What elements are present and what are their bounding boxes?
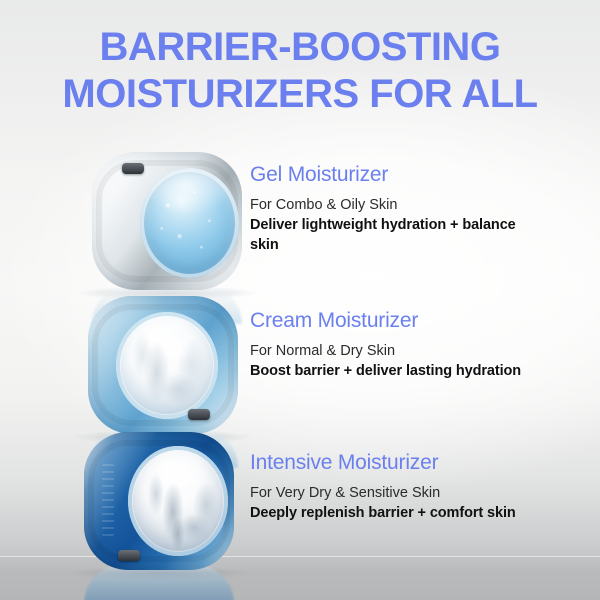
cream-jar-opening xyxy=(116,312,218,419)
product-skintype-cream: For Normal & Dry Skin xyxy=(250,341,521,361)
product-block-cream: Cream Moisturizer For Normal & Dry Skin … xyxy=(250,308,521,381)
cream-swirl-texture xyxy=(116,312,218,419)
headline-line-2: MOISTURIZERS FOR ALL xyxy=(0,71,600,118)
gel-jar-opening xyxy=(140,168,239,278)
intensive-jar-tab xyxy=(118,550,140,561)
product-benefit-intensive: Deeply replenish barrier + comfort skin xyxy=(250,503,516,523)
product-title-intensive: Intensive Moisturizer xyxy=(250,450,516,476)
gel-shimmer xyxy=(140,168,239,278)
cream-jar-tab xyxy=(188,409,210,420)
product-benefit-cream: Boost barrier + deliver lasting hydratio… xyxy=(250,361,521,381)
product-title-cream: Cream Moisturizer xyxy=(250,308,521,334)
gel-jar xyxy=(92,152,242,290)
intensive-jar-embossed-text xyxy=(102,464,114,536)
product-benefit-gel: Deliver lightweight hydration + balance … xyxy=(250,215,540,255)
gel-jar-tab xyxy=(122,163,144,174)
product-block-gel: Gel Moisturizer For Combo & Oily Skin De… xyxy=(250,162,540,255)
horizon-line xyxy=(0,556,600,557)
intensive-swirl-texture xyxy=(128,446,228,556)
cream-jar xyxy=(88,296,238,434)
headline-line-1: BARRIER-BOOSTING xyxy=(0,24,600,71)
product-skintype-intensive: For Very Dry & Sensitive Skin xyxy=(250,483,516,503)
intensive-jar-opening xyxy=(128,446,228,556)
intensive-jar xyxy=(84,432,234,570)
product-skintype-gel: For Combo & Oily Skin xyxy=(250,195,540,215)
page-title: BARRIER-BOOSTING MOISTURIZERS FOR ALL xyxy=(0,24,600,118)
product-title-gel: Gel Moisturizer xyxy=(250,162,540,188)
product-block-intensive: Intensive Moisturizer For Very Dry & Sen… xyxy=(250,450,516,523)
poster-canvas: BARRIER-BOOSTING MOISTURIZERS FOR ALL Ge… xyxy=(0,0,600,600)
